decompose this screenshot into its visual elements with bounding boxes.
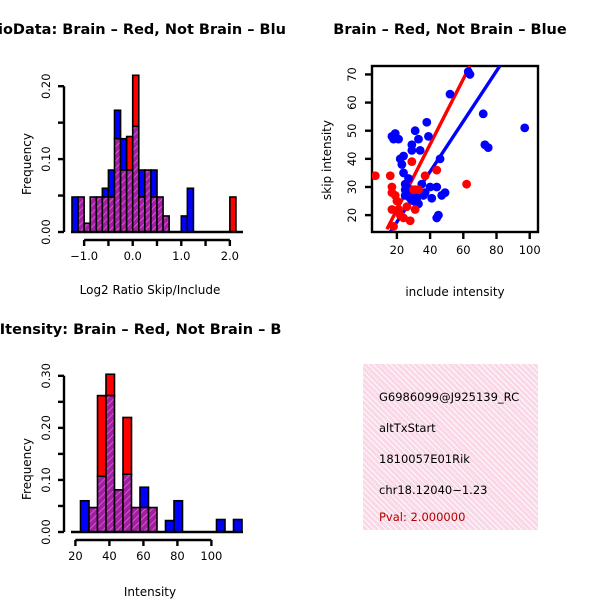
hist-bar-overlap (78, 197, 84, 232)
x-tick-label: 40 (102, 549, 117, 563)
histogram-bars (72, 75, 236, 232)
data-point (404, 174, 413, 183)
y-tick-label: 50 (345, 123, 359, 138)
scatter-content (371, 66, 529, 232)
hist-bar-overlap (151, 197, 157, 232)
x-tick-label: 60 (456, 243, 471, 257)
hist-bar-overlap (123, 474, 132, 532)
hist-bar-exclusive (121, 139, 127, 170)
data-point (432, 166, 441, 175)
hist-bar-exclusive (174, 501, 183, 532)
hist-bar-overlap (145, 170, 151, 232)
hist-bar-exclusive (72, 197, 78, 232)
data-point (397, 160, 406, 169)
scatter-xlabel: include intensity (345, 285, 565, 299)
x-tick-label: 100 (200, 549, 222, 563)
y-tick-label: 0.00 (39, 219, 53, 245)
gene-info-box: G6986099@J925139_RC altTxStart 1810057E0… (363, 364, 538, 530)
ratio-histogram-panel: RatioData: Brain – Red, Not Brain – Blu … (0, 0, 300, 300)
data-point (393, 197, 402, 206)
y-tick-label: 40 (345, 152, 359, 167)
hist-bar-exclusive (234, 520, 243, 532)
hist-bar-exclusive (102, 188, 108, 197)
y-tick-label: 0.30 (39, 363, 53, 389)
data-point (416, 146, 425, 155)
y-tick-label: 0.10 (39, 467, 53, 493)
hist-bar-overlap (132, 508, 141, 532)
data-point (407, 146, 416, 155)
data-point (371, 171, 380, 180)
intensity-histogram-plot: 0.000.100.200.3020406080100 (0, 300, 300, 575)
hist-bar-overlap (102, 197, 108, 232)
y-tick-label: 60 (345, 95, 359, 110)
hist-bar-exclusive (108, 170, 114, 197)
info-line-pval: Pval: 2.000000 (379, 510, 465, 524)
x-tick-label: −1.0 (70, 249, 98, 263)
data-point (421, 171, 430, 180)
x-tick-label: 1.0 (172, 249, 190, 263)
hist-bar-exclusive (181, 216, 187, 232)
y-tick-label: 0.00 (39, 519, 53, 545)
data-point (411, 205, 420, 214)
hist-bar-exclusive (123, 417, 132, 474)
y-tick-label: 20 (345, 208, 359, 223)
x-tick-label: 40 (423, 243, 438, 257)
scatter-plot: 20304050607020406080100 (300, 0, 600, 275)
axes (365, 74, 530, 239)
y-tick-label: 70 (345, 67, 359, 82)
x-tick-label: 80 (170, 549, 185, 563)
ratio-histogram-plot: 0.000.100.20−1.00.01.02.0 (0, 0, 300, 275)
hist-bar-exclusive (115, 110, 121, 138)
y-tick-label: 0.10 (39, 146, 53, 172)
y-tick-label: 0.20 (39, 415, 53, 441)
hist-bar-overlap (140, 508, 149, 532)
hist-bar-overlap (127, 170, 133, 232)
x-tick-label: 20 (390, 243, 405, 257)
scatter-panel: Brain – Red, Not Brain – Blue skip inten… (300, 0, 600, 300)
hist-bar-overlap (149, 508, 158, 532)
hist-bar-overlap (96, 197, 102, 232)
hist-bar-overlap (89, 508, 98, 532)
info-line-gene-symbol: 1810057E01Rik (379, 452, 470, 466)
hist-bar-overlap (133, 126, 139, 232)
intensity-histogram-panel: ne Itensity: Brain – Red, Not Brain – B … (0, 300, 300, 600)
data-point (462, 180, 471, 189)
hist-bar-exclusive (166, 521, 175, 532)
hist-bar-overlap (115, 490, 124, 532)
info-box-hatch-pattern (363, 364, 538, 530)
info-line-event-type: altTxStart (379, 421, 436, 435)
hist-bar-exclusive (217, 520, 226, 532)
x-tick-label: 2.0 (221, 249, 239, 263)
hist-bar-exclusive (230, 197, 236, 232)
y-tick-label: 30 (345, 180, 359, 195)
data-point (399, 152, 408, 161)
data-point (407, 157, 416, 166)
hist-bar-overlap (90, 197, 96, 232)
x-tick-label: 0.0 (124, 249, 142, 263)
histogram-bars (81, 374, 243, 532)
regression-line (387, 66, 470, 229)
data-point (432, 183, 441, 192)
hist-bar-overlap (108, 197, 114, 232)
intensity-histogram-xlabel: Intensity (55, 585, 245, 599)
hist-bar-exclusive (127, 137, 133, 171)
hist-bar-overlap (84, 223, 90, 232)
hist-bar-exclusive (81, 501, 90, 532)
hist-bar-overlap (115, 139, 121, 232)
x-tick-label: 80 (489, 243, 504, 257)
hist-bar-exclusive (187, 188, 193, 232)
y-tick-label: 0.20 (39, 73, 53, 99)
hist-bar-exclusive (140, 487, 149, 507)
info-line-gene-id: G6986099@J925139_RC (379, 390, 519, 404)
data-point (484, 143, 493, 152)
info-line-locus: chr18.12040−1.23 (379, 483, 487, 497)
hist-bar-overlap (157, 197, 163, 232)
hist-bar-exclusive (139, 170, 145, 197)
data-point (424, 132, 433, 141)
data-point (406, 216, 415, 225)
data-point (386, 171, 395, 180)
hist-bar-overlap (163, 216, 169, 232)
hist-bar-exclusive (106, 374, 115, 395)
data-point (402, 202, 411, 211)
data-point (414, 185, 423, 194)
data-point (414, 135, 423, 144)
x-tick-label: 60 (136, 549, 151, 563)
ratio-histogram-xlabel: Log2 Ratio Skip/Include (40, 283, 260, 297)
hist-bar-exclusive (151, 170, 157, 197)
data-point (479, 109, 488, 118)
hist-bar-overlap (139, 197, 145, 232)
data-point (394, 135, 403, 144)
hist-bar-overlap (98, 476, 107, 532)
data-point (411, 126, 420, 135)
data-point (422, 118, 431, 127)
data-point (446, 90, 455, 99)
data-point (436, 154, 445, 163)
hist-bar-exclusive (133, 75, 139, 126)
x-tick-label: 100 (519, 243, 541, 257)
x-tick-label: 20 (68, 549, 83, 563)
data-point (441, 188, 450, 197)
hist-bar-overlap (121, 170, 127, 232)
data-point (520, 123, 529, 132)
data-point (389, 222, 398, 231)
hist-bar-overlap (106, 396, 115, 532)
data-point (434, 211, 443, 220)
data-point (466, 70, 475, 79)
hist-bar-exclusive (98, 396, 107, 477)
data-point (427, 194, 436, 203)
